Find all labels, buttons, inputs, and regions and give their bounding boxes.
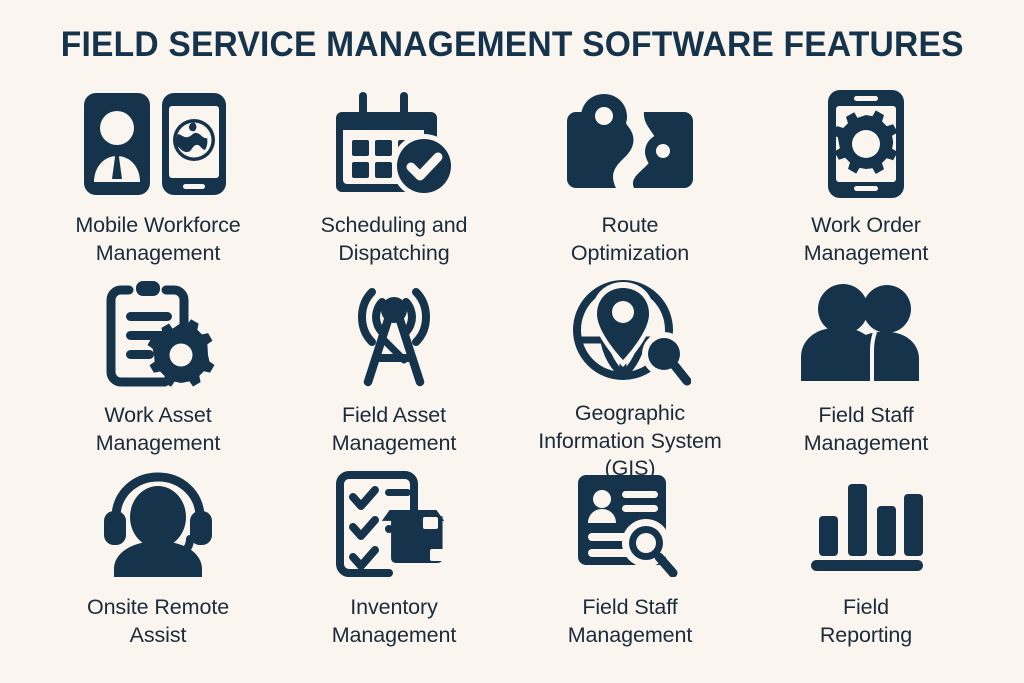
feature-card-field-staff-management[interactable]: Field Staff Management bbox=[748, 278, 984, 468]
calendar-check-icon bbox=[324, 88, 464, 200]
feature-label: Onsite Remote Assist bbox=[87, 594, 229, 649]
feature-card-scheduling-and-dispatching[interactable]: Scheduling and Dispatching bbox=[276, 88, 512, 278]
feature-card-field-staff-management-2[interactable]: Field Staff Management bbox=[512, 468, 748, 658]
feature-label: Route Optimization bbox=[571, 212, 689, 267]
features-grid: Mobile Workforce Management bbox=[40, 88, 984, 658]
infographic-page: FIELD SERVICE MANAGEMENT SOFTWARE FEATUR… bbox=[0, 0, 1024, 683]
feature-label: Work Order Management bbox=[804, 212, 929, 267]
feature-card-field-asset-management[interactable]: Field Asset Management bbox=[276, 278, 512, 468]
radio-tower-icon bbox=[338, 278, 450, 390]
feature-label: Scheduling and Dispatching bbox=[321, 212, 468, 267]
feature-card-inventory-management[interactable]: Inventory Management bbox=[276, 468, 512, 658]
feature-card-work-asset-management[interactable]: Work Asset Management bbox=[40, 278, 276, 468]
feature-label: Work Asset Management bbox=[96, 402, 221, 457]
two-people-icon bbox=[799, 278, 933, 390]
checklist-box-icon bbox=[331, 468, 457, 580]
page-title: FIELD SERVICE MANAGEMENT SOFTWARE FEATUR… bbox=[61, 26, 964, 65]
feature-label: Mobile Workforce Management bbox=[75, 212, 240, 267]
feature-card-field-reporting[interactable]: Field Reporting bbox=[748, 468, 984, 658]
feature-label: Field Staff Management bbox=[568, 594, 693, 649]
headset-agent-icon bbox=[100, 468, 216, 580]
map-route-pins-icon bbox=[559, 88, 701, 200]
clipboard-gear-icon bbox=[99, 278, 217, 390]
feature-card-onsite-remote-assist[interactable]: Onsite Remote Assist bbox=[40, 468, 276, 658]
page-title-wrap: FIELD SERVICE MANAGEMENT SOFTWARE FEATUR… bbox=[0, 26, 1024, 65]
feature-card-mobile-workforce-management[interactable]: Mobile Workforce Management bbox=[40, 88, 276, 278]
id-card-magnifier-icon bbox=[574, 468, 686, 580]
bar-chart-icon bbox=[805, 468, 927, 580]
mobile-workforce-icon bbox=[82, 88, 234, 200]
phone-gear-icon bbox=[816, 88, 916, 200]
feature-label: Field Asset Management bbox=[332, 402, 457, 457]
feature-card-work-order-management[interactable]: Work Order Management bbox=[748, 88, 984, 278]
feature-card-geographic-information-system[interactable]: Geographic Information System (GIS) bbox=[512, 278, 748, 468]
feature-card-route-optimization[interactable]: Route Optimization bbox=[512, 88, 748, 278]
feature-label: Field Staff Management bbox=[804, 402, 929, 457]
feature-label: Inventory Management bbox=[332, 594, 457, 649]
globe-pin-magnifier-icon bbox=[569, 278, 691, 388]
feature-label: Field Reporting bbox=[820, 594, 912, 649]
